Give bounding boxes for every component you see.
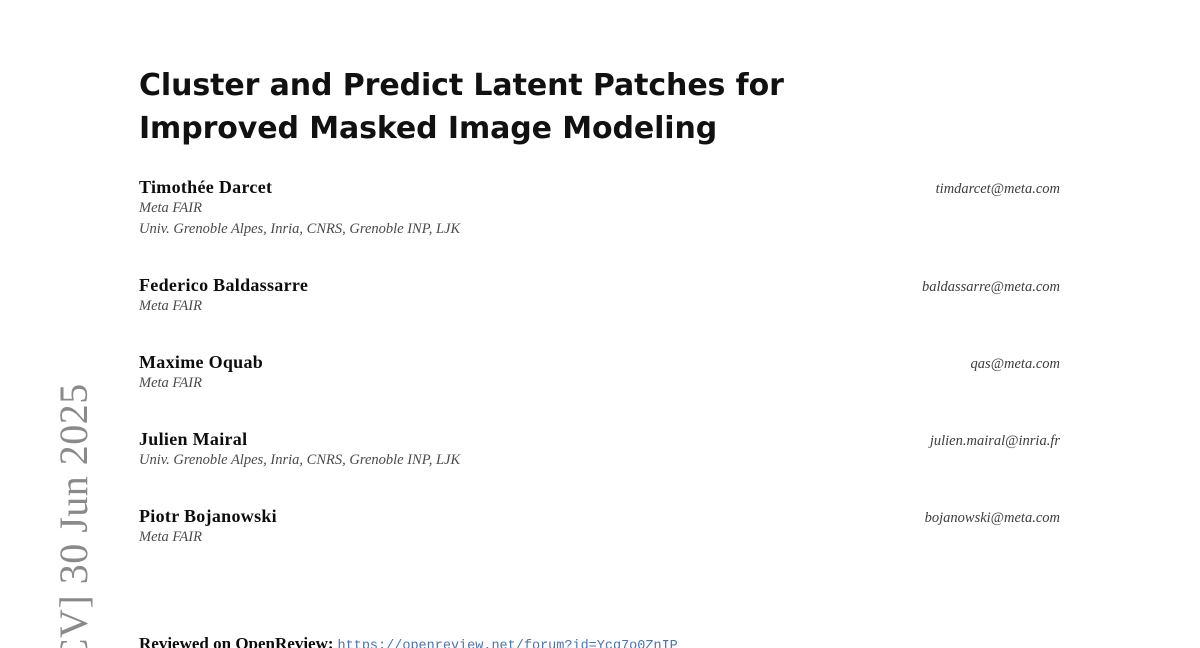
openreview-link[interactable]: https://openreview.net/forum?id=Ycq7o0Zn…: [338, 639, 678, 648]
author-affiliation: Meta FAIR: [139, 527, 277, 548]
author-info: Timothée Darcet Meta FAIR Univ. Grenoble…: [139, 176, 460, 240]
author-email: julien.mairal@inria.fr: [930, 431, 1060, 451]
author-list: Timothée Darcet Meta FAIR Univ. Grenoble…: [139, 176, 1060, 582]
paper-title: Cluster and Predict Latent Patches for I…: [139, 64, 899, 150]
author-email: bojanowski@meta.com: [925, 508, 1060, 528]
author-info: Maxime Oquab Meta FAIR: [139, 351, 263, 394]
openreview-label: Reviewed on OpenReview:: [139, 634, 334, 648]
author-block: Maxime Oquab Meta FAIR qas@meta.com: [139, 351, 1060, 394]
author-affiliation: Meta FAIR: [139, 296, 308, 317]
author-email: baldassarre@meta.com: [922, 277, 1060, 297]
author-block: Julien Mairal Univ. Grenoble Alpes, Inri…: [139, 428, 1060, 471]
author-block: Federico Baldassarre Meta FAIR baldassar…: [139, 274, 1060, 317]
author-affiliation: Meta FAIR: [139, 198, 460, 219]
author-info: Julien Mairal Univ. Grenoble Alpes, Inri…: [139, 428, 460, 471]
author-info: Federico Baldassarre Meta FAIR: [139, 274, 308, 317]
paper-page: cs.CV] 30 Jun 2025 Cluster and Predict L…: [0, 0, 1200, 648]
paper-title-line-1: Cluster and Predict Latent Patches for: [139, 64, 899, 107]
author-affiliation: Univ. Grenoble Alpes, Inria, CNRS, Greno…: [139, 219, 460, 240]
openreview-line: Reviewed on OpenReview: https://openrevi…: [139, 634, 1039, 648]
author-info: Piotr Bojanowski Meta FAIR: [139, 505, 277, 548]
paper-title-line-2: Improved Masked Image Modeling: [139, 107, 899, 150]
author-name: Federico Baldassarre: [139, 274, 308, 296]
author-name: Timothée Darcet: [139, 176, 460, 198]
author-email: timdarcet@meta.com: [936, 179, 1060, 199]
author-email: qas@meta.com: [971, 354, 1060, 374]
author-name: Julien Mairal: [139, 428, 460, 450]
arxiv-stamp: cs.CV] 30 Jun 2025: [0, 0, 110, 648]
author-block: Timothée Darcet Meta FAIR Univ. Grenoble…: [139, 176, 1060, 240]
author-block: Piotr Bojanowski Meta FAIR bojanowski@me…: [139, 505, 1060, 548]
author-name: Piotr Bojanowski: [139, 505, 277, 527]
author-name: Maxime Oquab: [139, 351, 263, 373]
author-affiliation: Meta FAIR: [139, 373, 263, 394]
arxiv-stamp-text: cs.CV] 30 Jun 2025: [50, 0, 97, 648]
author-affiliation: Univ. Grenoble Alpes, Inria, CNRS, Greno…: [139, 450, 460, 471]
